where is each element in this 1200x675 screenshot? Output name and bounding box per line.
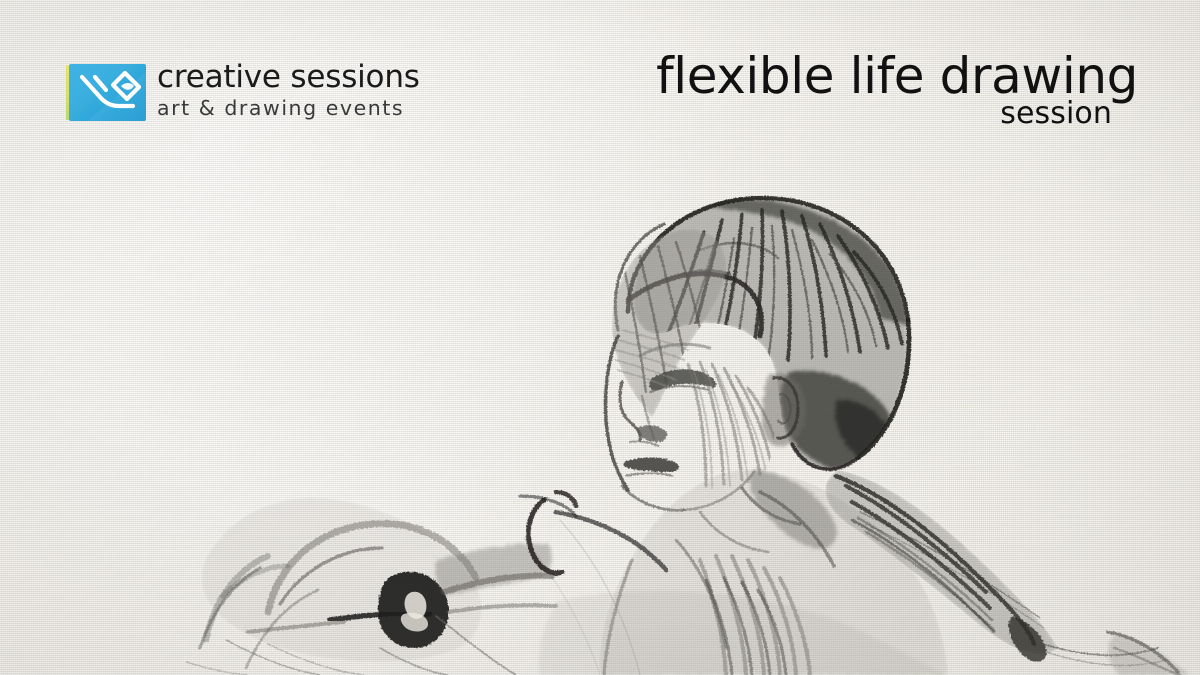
brand-tagline: art & drawing events (157, 96, 420, 122)
poster-canvas: creative sessions art & drawing events f… (0, 0, 1200, 675)
nose (630, 396, 667, 446)
brand-wordmark: creative sessions art & drawing events (157, 62, 420, 123)
dark-knot (378, 572, 449, 648)
face-shading (688, 362, 780, 488)
brand-name: creative sessions (157, 62, 420, 94)
hair-mass (632, 197, 908, 473)
drapery-mass (202, 498, 482, 662)
logo-pen-strokes (69, 64, 146, 121)
poster-title-block: flexible life drawing session (656, 50, 1138, 129)
mouth (624, 458, 679, 477)
eye (640, 344, 716, 392)
right-arm (825, 470, 1058, 654)
torso (600, 469, 948, 675)
brand-lockup[interactable]: creative sessions art & drawing events (66, 62, 420, 123)
hair-side-lock (612, 229, 726, 418)
creative-sessions-logo-icon[interactable] (66, 64, 146, 121)
logo-tile (69, 64, 146, 121)
ear (762, 373, 807, 446)
